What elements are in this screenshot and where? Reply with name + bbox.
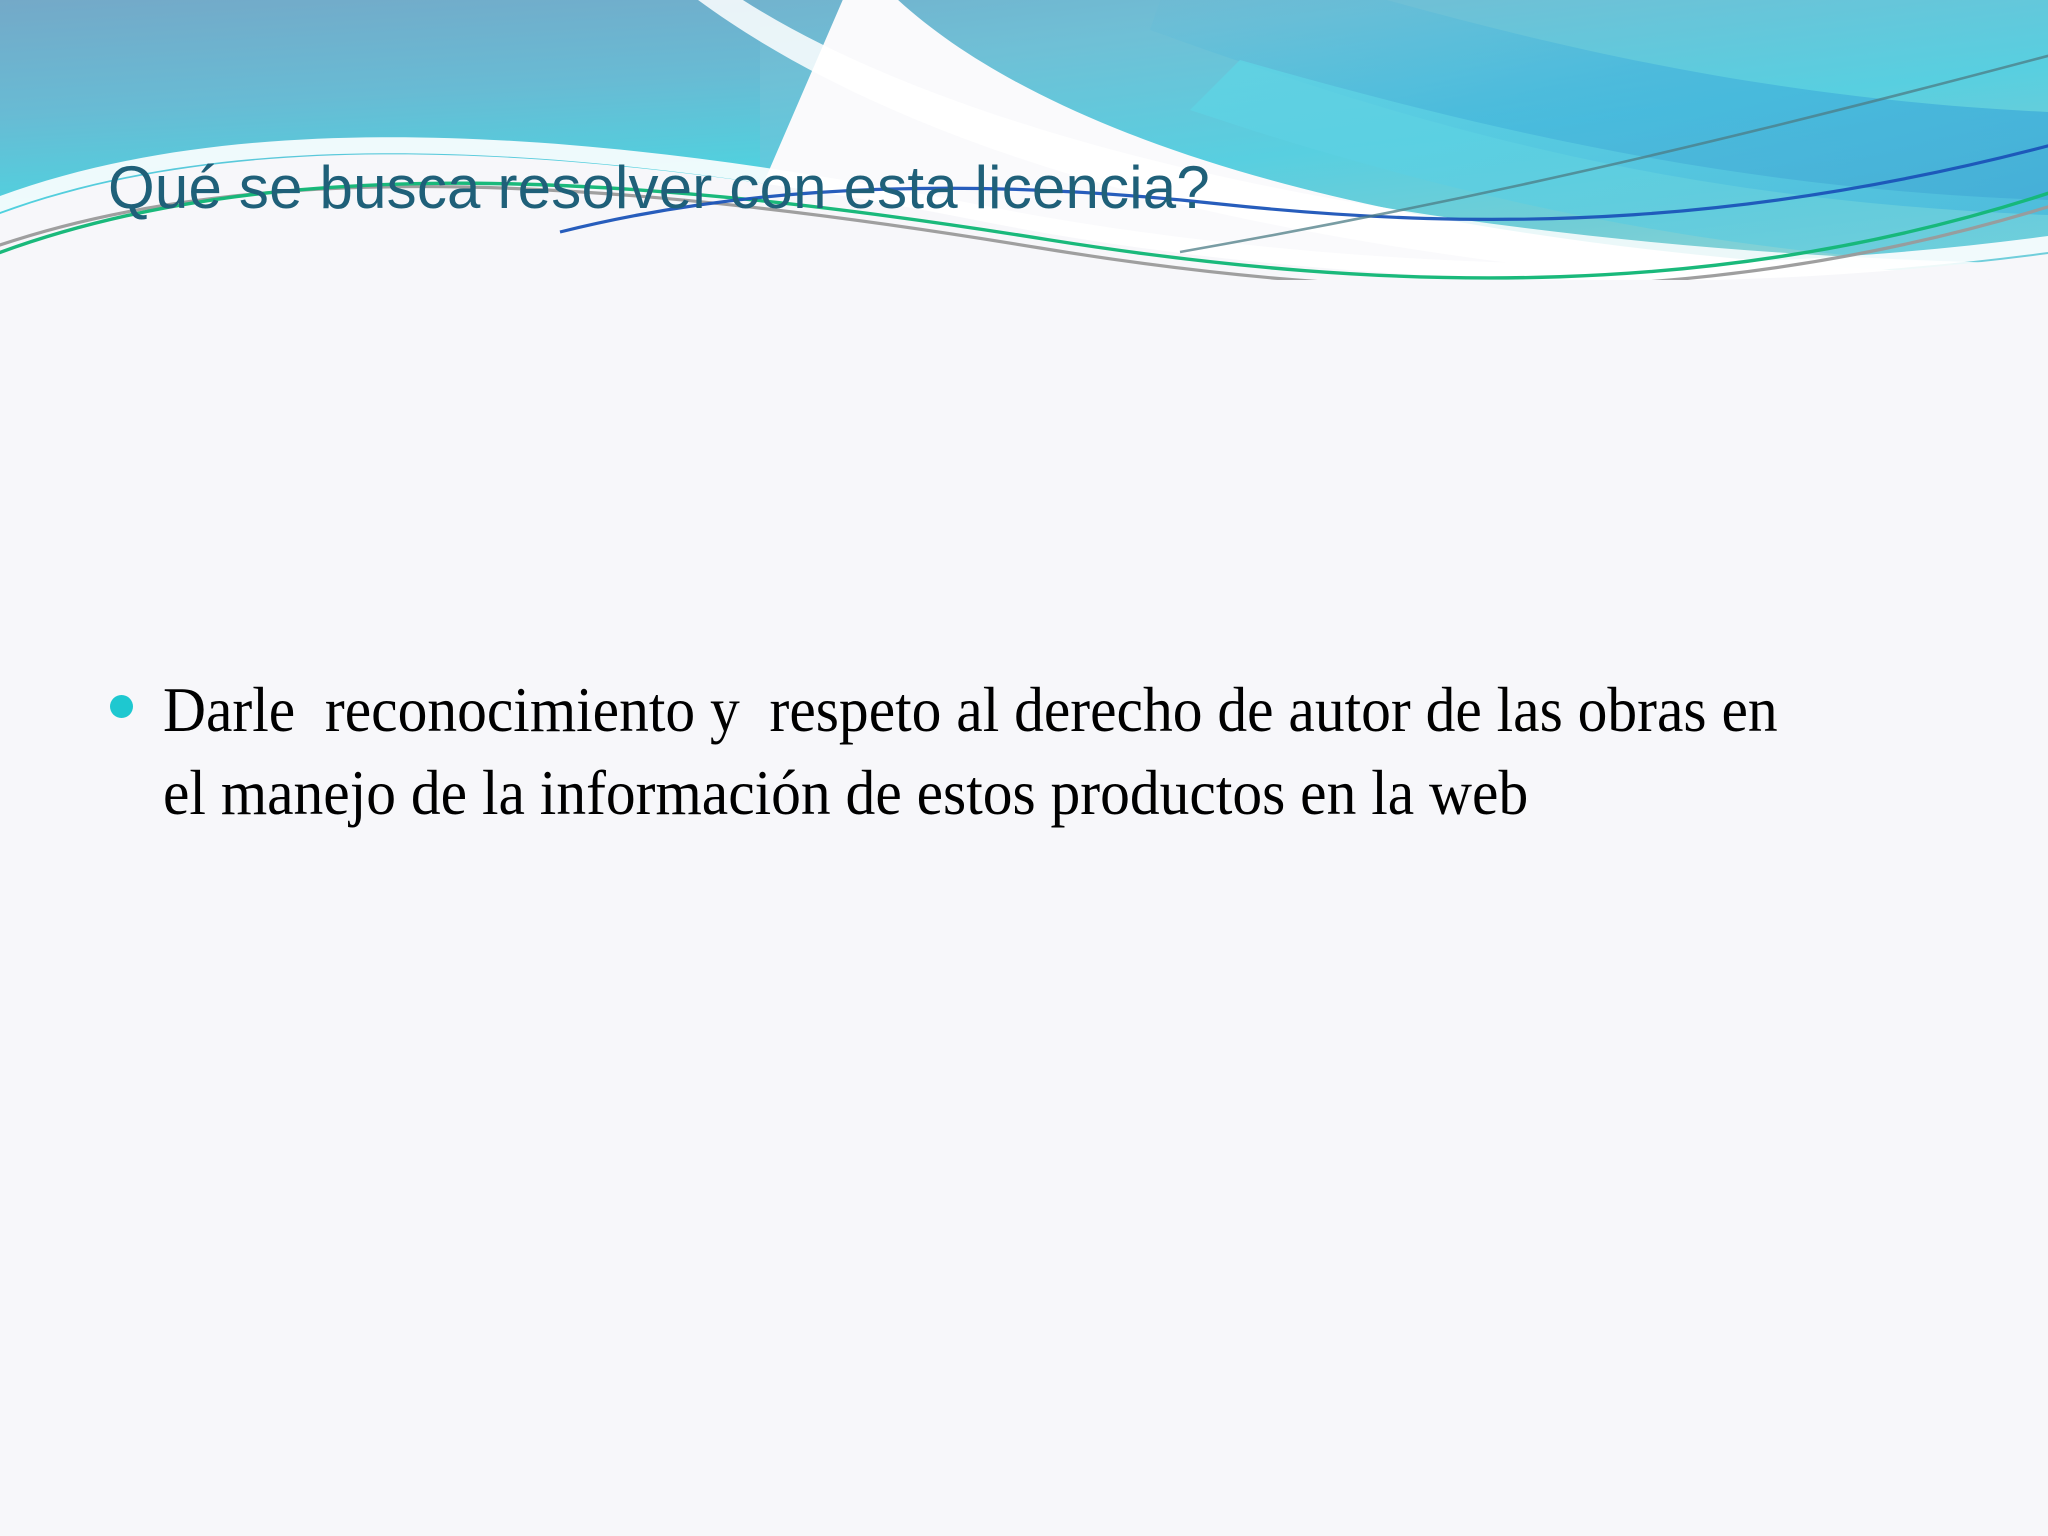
slide-title-placeholder[interactable]: Qué se busca resolver con esta licencia?: [108, 158, 1808, 218]
bullet-text: Darle reconocimiento y respeto al derech…: [163, 668, 1816, 834]
page-title: Qué se busca resolver con esta licencia?: [108, 158, 1808, 218]
flow-wave-header-decoration: [0, 0, 2048, 280]
slide-canvas: Qué se busca resolver con esta licencia?…: [0, 0, 2048, 1536]
slide-body-placeholder[interactable]: Darle reconocimiento y respeto al derech…: [110, 668, 1940, 834]
bullet-dot-icon: [110, 695, 133, 718]
list-item[interactable]: Darle reconocimiento y respeto al derech…: [110, 668, 1940, 834]
